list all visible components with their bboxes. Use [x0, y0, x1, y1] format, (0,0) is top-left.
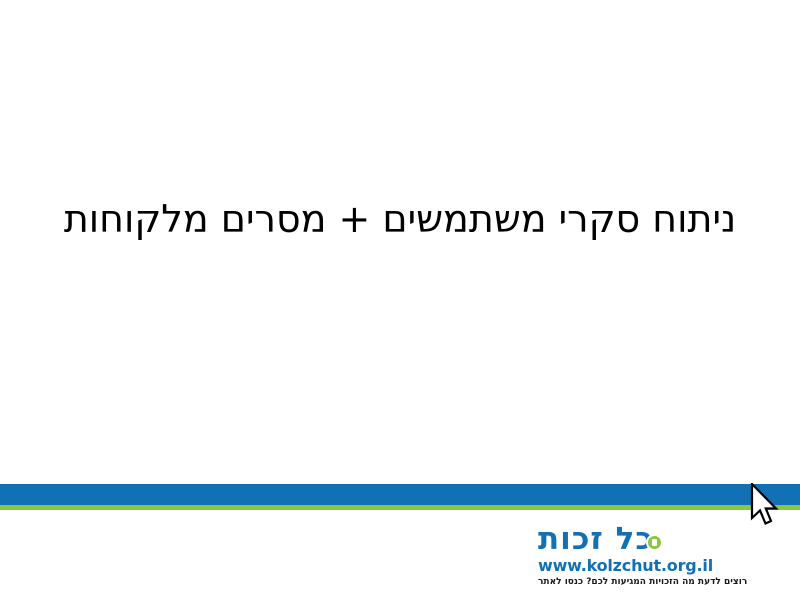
logo-wordmark: כל זכות [538, 522, 654, 556]
logo-wordmark-row: כל זכות [520, 522, 782, 556]
logo-tagline: רוצים לדעת מה הזכויות המגיעות לכם? כנסו … [520, 577, 782, 588]
footer-green-bar [0, 505, 800, 510]
presentation-slide: ניתוח סקרי משתמשים + מסרים מלקוחות כל זכ… [0, 0, 800, 600]
page-title: ניתוח סקרי משתמשים + מסרים מלקוחות [64, 196, 736, 244]
footer-blue-bar [0, 484, 800, 505]
title-block: ניתוח סקרי משתמשים + מסרים מלקוחות [0, 185, 800, 255]
kolzchut-logo[interactable]: כל זכות www.kolzchut.org.il רוצים לדעת מ… [520, 522, 782, 590]
logo-website-url[interactable]: www.kolzchut.org.il [520, 557, 782, 575]
location-pin-icon [646, 534, 663, 551]
